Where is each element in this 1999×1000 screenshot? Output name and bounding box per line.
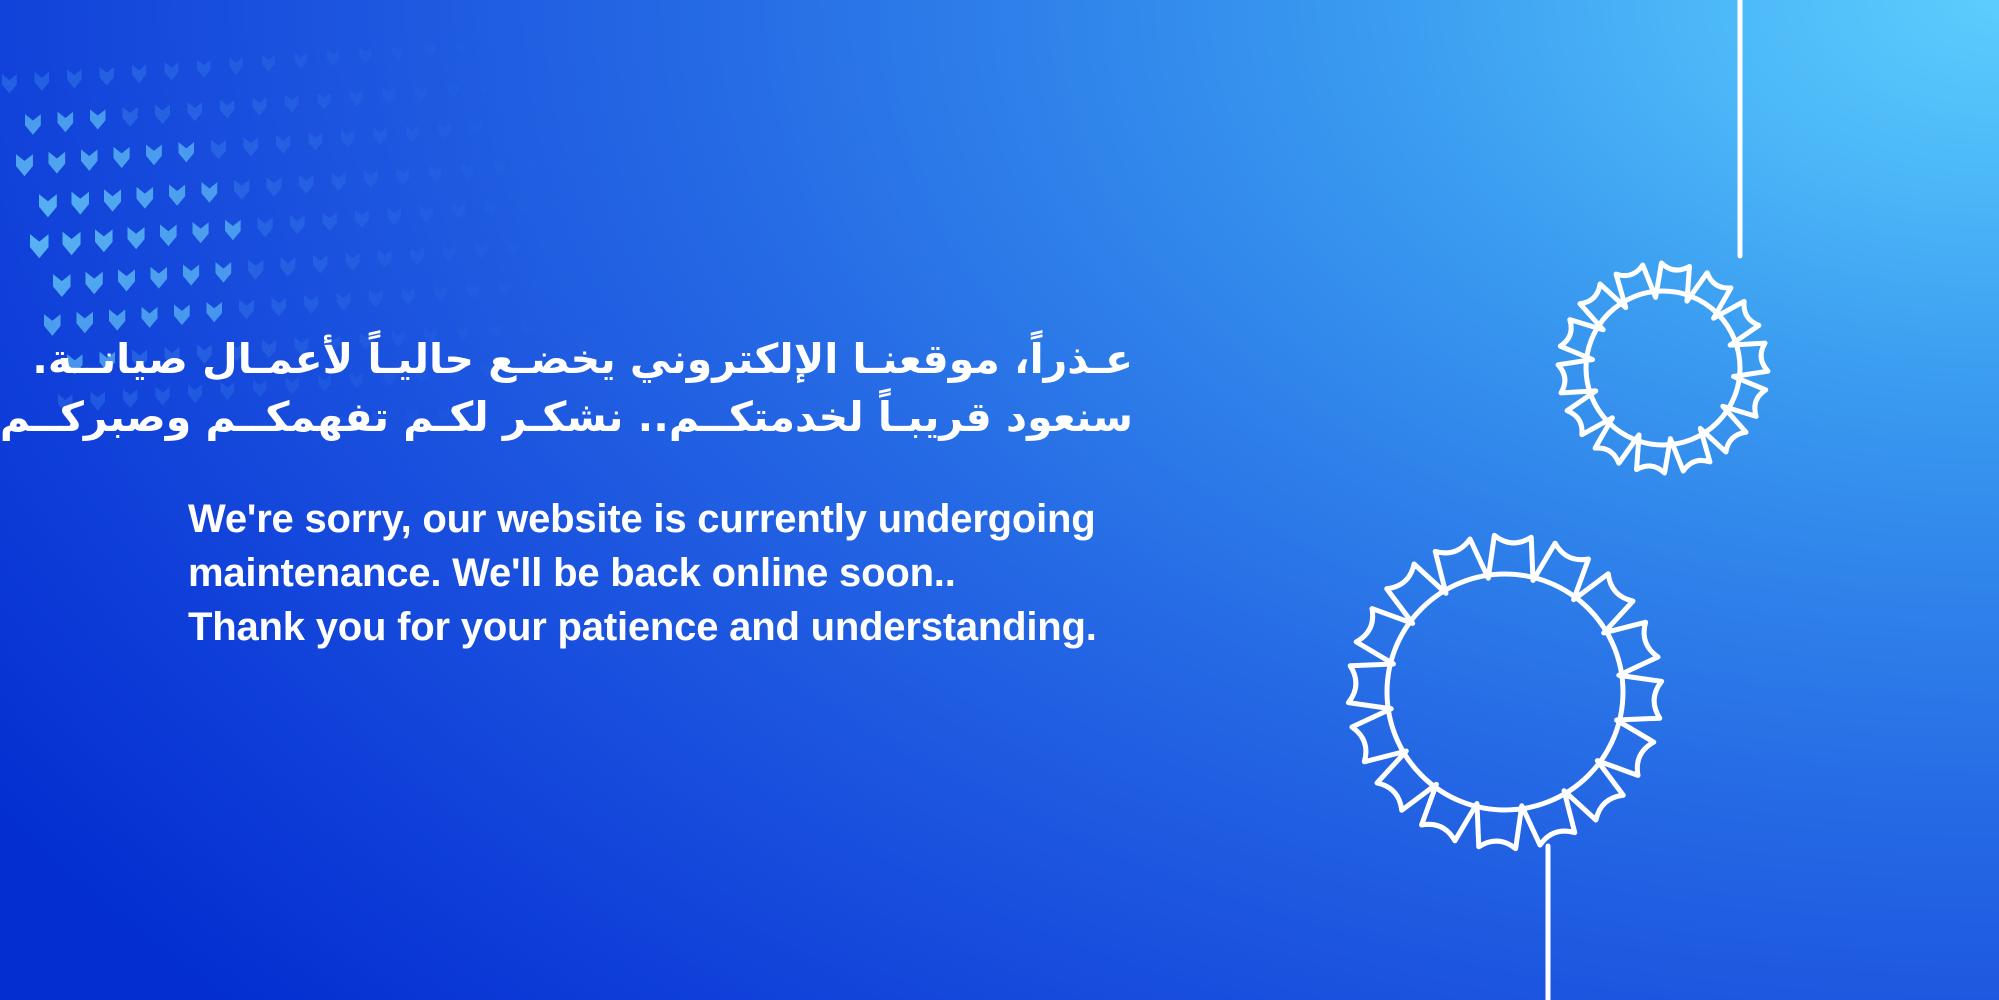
chevron-icon: [95, 229, 113, 252]
chevron-icon: [81, 149, 98, 171]
chevron-icon: [355, 210, 369, 228]
chevron-icon: [276, 135, 290, 154]
chevron-icon: [160, 225, 177, 247]
chevron-icon: [146, 145, 162, 166]
chevron-icon: [508, 240, 520, 255]
chevron-icon: [564, 276, 575, 290]
english-line-3: Thank you for your patience and understa…: [188, 600, 1133, 654]
chevron-icon: [30, 234, 49, 258]
chevron-icon: [620, 313, 621, 327]
chevron-icon: [536, 116, 547, 130]
chevron-icon: [583, 193, 594, 207]
chevron-icon: [610, 71, 620, 85]
chevron-icon: [49, 152, 66, 174]
chevron-icon: [360, 48, 372, 64]
chevron-icon: [327, 50, 339, 66]
chevron-icon: [601, 111, 612, 125]
chevron-icon: [415, 85, 427, 101]
chevron-icon: [559, 156, 570, 170]
chevron-icon: [90, 109, 106, 129]
chevron-icon: [522, 36, 533, 50]
chevron-icon: [197, 60, 211, 78]
chevron-icon: [151, 267, 168, 289]
chevron-icon: [239, 300, 254, 320]
chevron-icon: [35, 72, 50, 91]
chevron-icon: [406, 125, 419, 141]
chevron-icon: [202, 182, 218, 203]
chevron-icon: [225, 220, 241, 241]
chevron-icon: [541, 238, 552, 253]
chevron-icon: [290, 215, 305, 234]
english-line-2: maintenance. We'll be back online soon..: [188, 546, 1133, 600]
chevron-icon: [411, 248, 424, 265]
chevron-icon: [318, 93, 331, 110]
chevron-icon: [513, 78, 524, 92]
chevron-icon: [179, 142, 195, 162]
english-message: We're sorry, our website is currently un…: [188, 492, 1133, 654]
chevron-icon: [485, 200, 497, 216]
chevron-icon: [467, 283, 479, 299]
chevron-icon: [504, 118, 515, 133]
chevron-icon: [230, 57, 243, 74]
chevron-icon: [518, 198, 530, 213]
chevron-icon: [193, 222, 209, 243]
chevron-icon: [443, 245, 456, 261]
chevron-icon: [573, 236, 584, 250]
chevron-icon: [425, 43, 436, 58]
chevron-icon: [364, 170, 378, 188]
chevron-icon: [606, 233, 617, 247]
arabic-message: عـذراً، موقعنـا الإلكتروني يخضـع حاليـاً…: [188, 330, 1133, 446]
chevron-icon: [207, 302, 222, 322]
small-gear-inner-circle: [1586, 291, 1740, 445]
large-gear-inner-circle: [1387, 574, 1623, 810]
chevron-icon: [248, 260, 263, 280]
chevron-icon: [378, 250, 392, 268]
chevron-icon: [183, 265, 199, 286]
chevron-icon: [137, 187, 154, 209]
chevron-icon: [439, 123, 451, 139]
chevron-icon: [25, 114, 41, 135]
chevron-icon: [118, 269, 135, 291]
chevron-icon: [480, 80, 491, 94]
chevron-icon: [578, 73, 589, 87]
chevron-icon: [453, 203, 466, 219]
chevron-icon: [462, 163, 474, 179]
chevron-icon: [253, 97, 267, 115]
chevron-icon: [569, 113, 580, 127]
chevron-icon: [429, 165, 442, 181]
chevron-icon: [295, 53, 308, 69]
chevron-icon: [104, 189, 121, 211]
chevron-icon: [434, 285, 447, 301]
chevron-icon: [216, 262, 232, 283]
chevron-icon: [244, 137, 259, 156]
chevron-icon: [285, 95, 299, 113]
chevron-icon: [490, 38, 501, 52]
chevron-icon: [587, 316, 598, 330]
chevron-icon: [471, 120, 483, 135]
chevron-icon: [39, 194, 57, 217]
chevron-icon: [346, 253, 360, 271]
chevron-icon: [234, 180, 249, 200]
chevron-icon: [494, 160, 506, 175]
chevron-icon: [592, 153, 603, 167]
chevron-icon: [299, 175, 313, 194]
chevron-icon: [476, 243, 488, 259]
chevron-icon: [211, 140, 226, 160]
chevron-icon: [615, 191, 620, 205]
chevron-icon: [267, 177, 282, 196]
chevron-icon: [188, 102, 203, 121]
chevron-icon: [341, 130, 354, 147]
chevron-icon: [272, 297, 287, 316]
chevron-icon: [392, 45, 404, 60]
chevron-icon: [309, 133, 323, 151]
chevron-icon: [16, 154, 33, 176]
chevron-icon: [555, 33, 566, 47]
chevron-icon: [397, 168, 410, 185]
chevron-icon: [142, 307, 158, 328]
chevron-icon: [499, 280, 511, 295]
chevron-icon: [545, 76, 556, 90]
chevron-icon: [165, 62, 179, 80]
chevron-icon: [63, 232, 81, 256]
arabic-line-1: عـذراً، موقعنـا الإلكتروني يخضـع حاليـاً…: [188, 330, 1133, 388]
chevron-icon: [350, 90, 363, 107]
small-gear-teeth: [1558, 263, 1768, 473]
chevron-icon: [388, 208, 401, 225]
chevron-icon: [86, 272, 103, 295]
chevron-icon: [53, 274, 71, 297]
chevron-icon: [550, 196, 561, 210]
chevron-icon: [67, 69, 82, 88]
chevron-icon: [448, 83, 460, 98]
chevron-icon: [304, 295, 318, 314]
chevron-icon: [527, 158, 538, 173]
maintenance-page: عـذراً، موقعنـا الإلكتروني يخضـع حاليـاً…: [0, 0, 1999, 1000]
chevron-icon: [174, 305, 190, 326]
chevron-icon: [597, 273, 608, 287]
chevron-icon: [323, 213, 337, 232]
chevron-icon: [2, 74, 17, 93]
maintenance-message: عـذراً، موقعنـا الإلكتروني يخضـع حاليـاً…: [188, 330, 1133, 654]
chevron-icon: [109, 309, 125, 330]
chevron-icon: [532, 278, 543, 293]
chevron-icon: [332, 173, 346, 191]
chevron-icon: [128, 227, 145, 249]
chevron-icon: [169, 185, 185, 206]
chevron-icon: [132, 65, 146, 83]
english-line-1: We're sorry, our website is currently un…: [188, 492, 1133, 546]
chevron-icon: [72, 192, 90, 215]
chevron-icon: [123, 107, 138, 127]
chevron-icon: [155, 105, 170, 124]
chevron-icon: [313, 255, 327, 274]
large-gear-teeth: [1348, 535, 1661, 848]
chevron-icon: [114, 147, 130, 168]
chevron-icon: [587, 31, 598, 45]
chevron-icon: [258, 217, 273, 237]
chevron-icon: [220, 100, 234, 119]
chevron-icon: [457, 40, 468, 54]
chevron-icon: [369, 290, 383, 308]
chevron-icon: [383, 88, 395, 104]
chevron-icon: [402, 288, 415, 305]
chevron-icon: [58, 112, 74, 132]
chevron-icon: [337, 293, 351, 311]
chevron-icon: [420, 205, 433, 222]
arabic-line-2: سنعود قريبـاً لخدمتكــم.. نشكـر لكـم تفه…: [188, 388, 1133, 446]
chevron-icon: [100, 67, 114, 86]
chevron-icon: [262, 55, 275, 72]
chevron-icon: [374, 128, 387, 145]
chevron-icon: [281, 257, 296, 276]
chevron-icon: [620, 28, 621, 42]
